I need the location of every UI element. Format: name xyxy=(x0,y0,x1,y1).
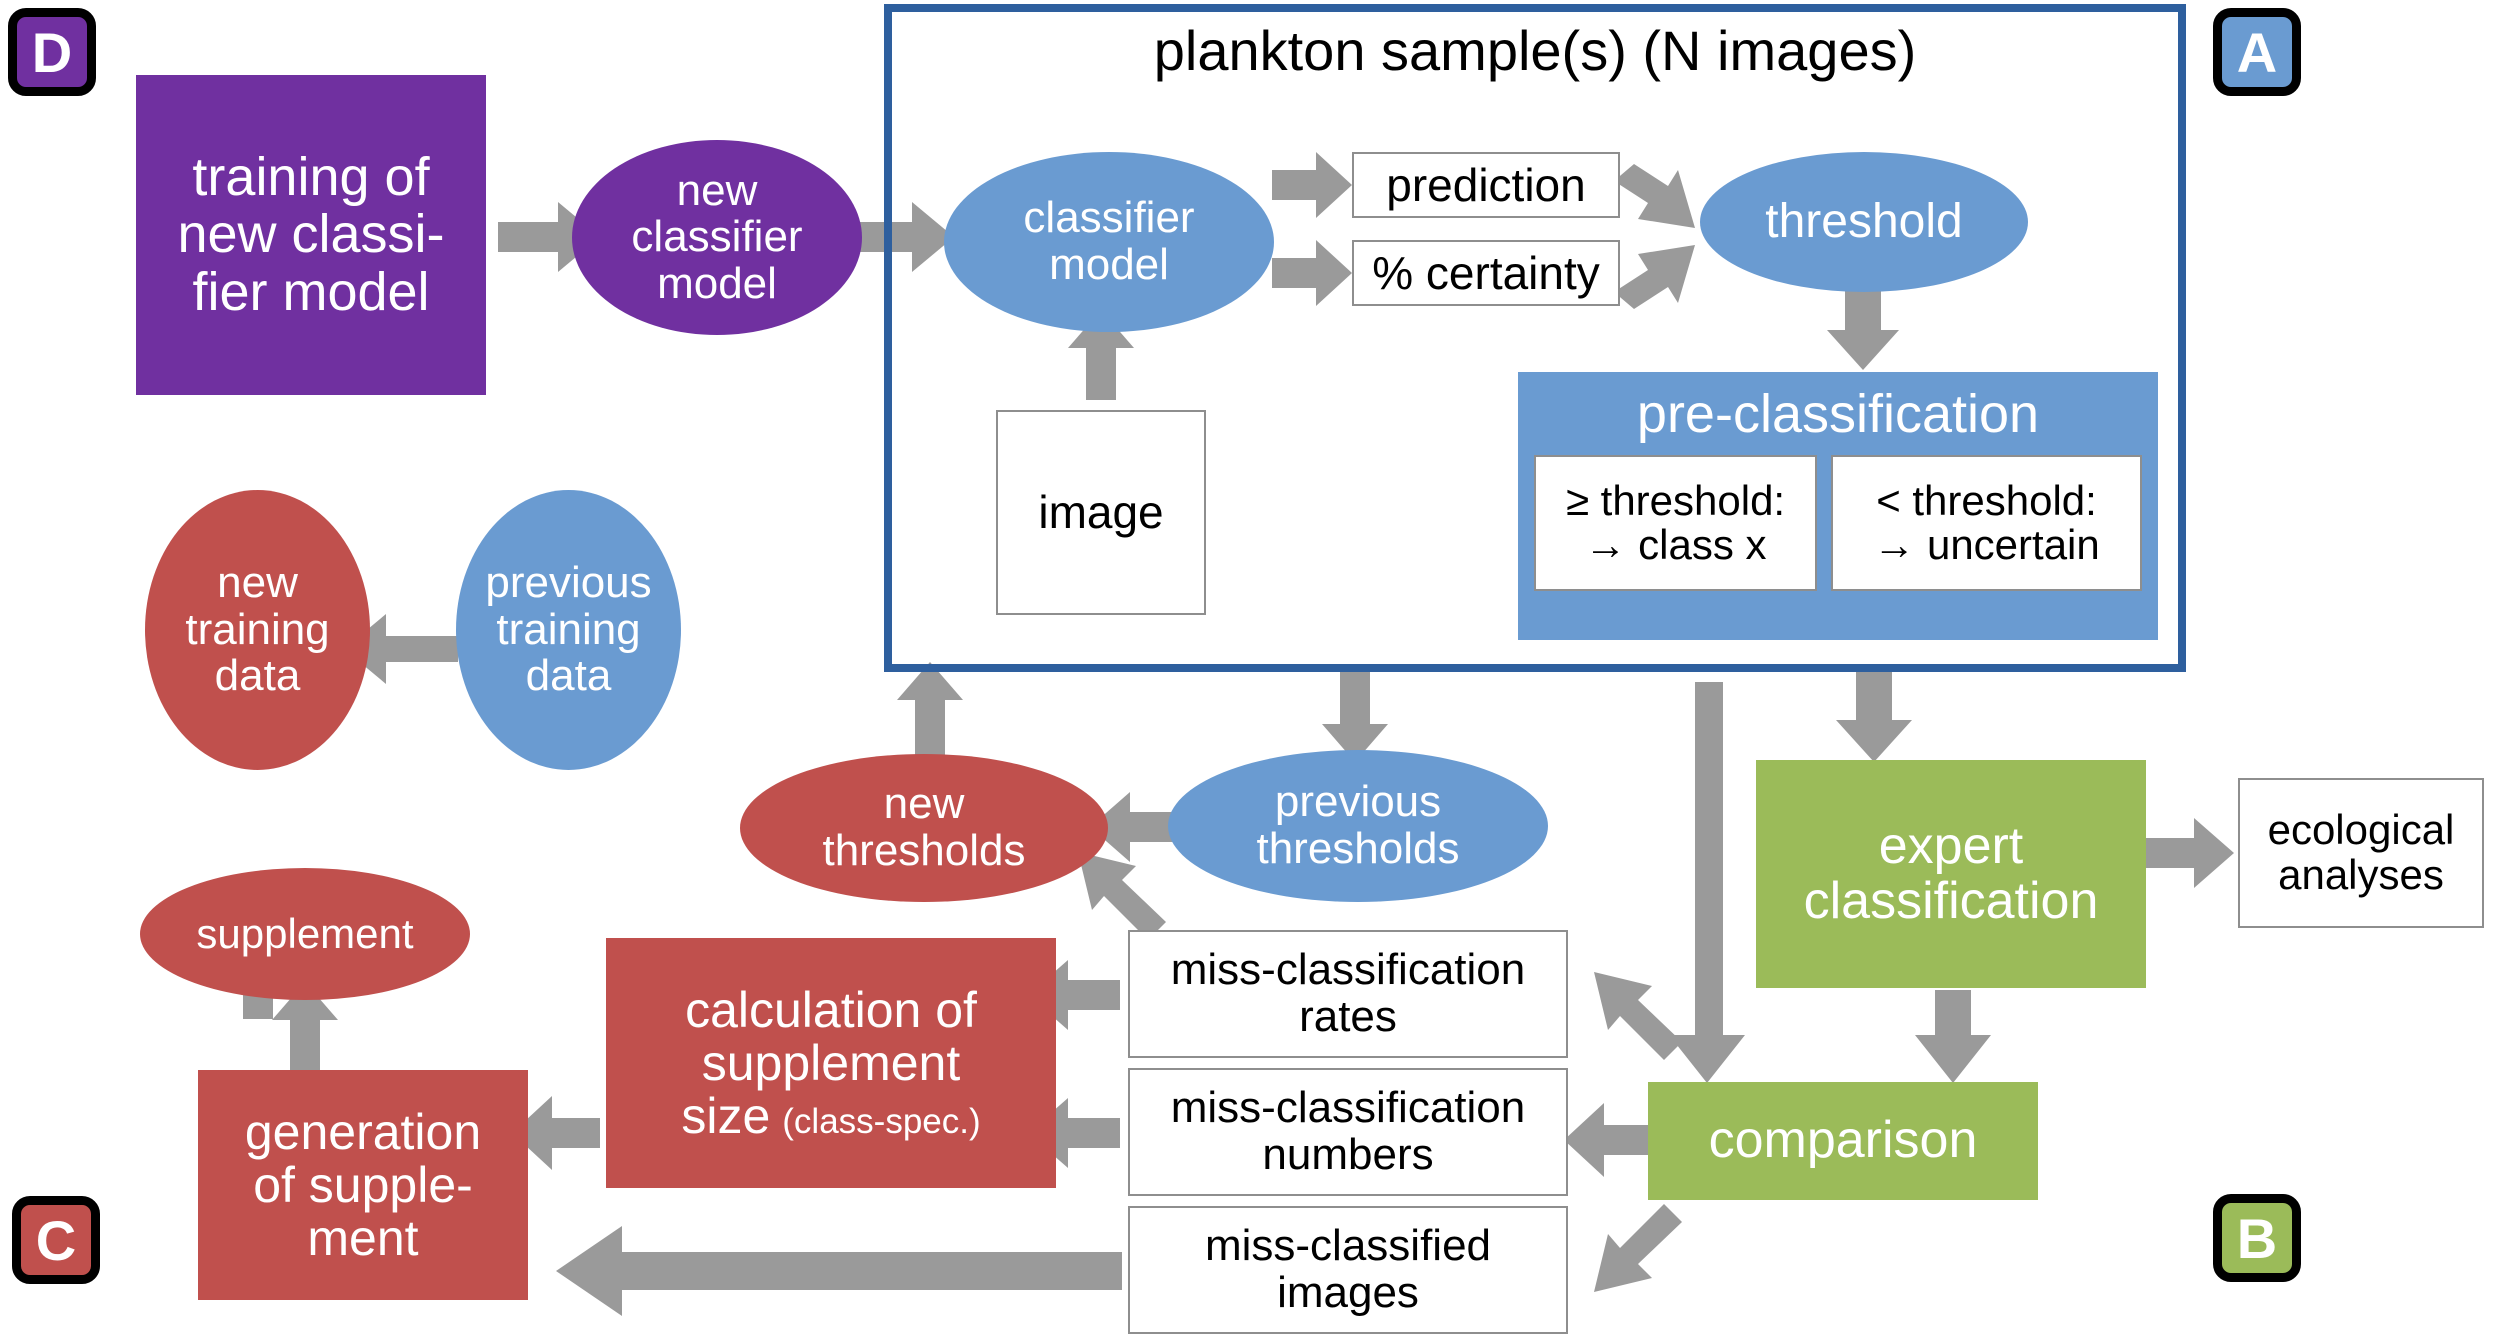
threshold-label: threshold xyxy=(1765,197,1962,248)
training-line-3: fier model xyxy=(192,264,429,321)
node-miss-classification-numbers[interactable]: miss-classification numbers xyxy=(1128,1068,1568,1196)
node-miss-classification-rates[interactable]: miss-classification rates xyxy=(1128,930,1568,1058)
calculation-line-2: supplement xyxy=(702,1037,961,1090)
prediction-label: prediction xyxy=(1386,161,1585,210)
miss-classification-rates-line-1: miss-classification xyxy=(1171,947,1526,994)
ecological-analyses-line-2: analyses xyxy=(2278,853,2444,898)
comparison-label: comparison xyxy=(1709,1113,1978,1168)
new-training-data-line-2: training xyxy=(185,607,329,654)
arrow-rates-to-newthresholds xyxy=(1078,852,1166,940)
node-miss-classified-images[interactable]: miss-classified images xyxy=(1128,1206,1568,1334)
arrow-expert-to-ecological xyxy=(2146,818,2234,888)
pre-classification-title: pre-classification xyxy=(1637,386,2039,443)
arrow-comparison-to-numbers xyxy=(1564,1103,1656,1177)
new-classifier-line-3: model xyxy=(657,261,777,308)
generation-line-1: generation xyxy=(245,1106,481,1159)
node-new-classifier-model[interactable]: new classifier model xyxy=(572,140,862,335)
ge-threshold-line-2: → class x xyxy=(1585,523,1767,568)
badge-b-label: B xyxy=(2237,1206,2277,1271)
previous-training-data-line-2: training xyxy=(496,607,640,654)
node-supplement[interactable]: supplement xyxy=(140,868,470,1000)
node-lt-threshold[interactable]: < threshold: → uncertain xyxy=(1831,455,2142,591)
training-line-1: training of xyxy=(192,149,429,206)
miss-classified-images-line-2: images xyxy=(1277,1270,1419,1317)
badge-b[interactable]: B xyxy=(2213,1194,2301,1282)
arrow-preclassification-to-expert xyxy=(1836,668,1912,762)
arrow-expert-to-comparison xyxy=(1915,990,1991,1083)
classifier-model-line-2: model xyxy=(1049,242,1169,289)
expert-classification-line-2: classification xyxy=(1804,874,2099,929)
miss-classification-numbers-line-1: miss-classification xyxy=(1171,1085,1526,1132)
new-training-data-line-3: data xyxy=(215,653,301,700)
node-previous-thresholds[interactable]: previous thresholds xyxy=(1168,750,1548,902)
percent-certainty-label: % certainty xyxy=(1372,249,1600,298)
miss-classification-rates-line-2: rates xyxy=(1299,994,1397,1041)
node-image[interactable]: image xyxy=(996,410,1206,615)
miss-classification-numbers-line-2: numbers xyxy=(1262,1132,1433,1179)
new-classifier-line-1: new xyxy=(677,168,758,215)
generation-line-2: of supple- xyxy=(253,1159,473,1212)
classifier-model-line-1: classifier xyxy=(1023,195,1194,242)
arrow-comparison-to-images xyxy=(1594,1204,1682,1292)
node-threshold[interactable]: threshold xyxy=(1700,152,2028,292)
generation-line-3: ment xyxy=(307,1212,418,1265)
node-pre-classification[interactable]: pre-classification ≥ threshold: → class … xyxy=(1518,372,2158,640)
previous-thresholds-line-1: previous xyxy=(1275,779,1441,826)
new-thresholds-line-1: new xyxy=(884,781,965,828)
ecological-analyses-line-1: ecological xyxy=(2268,808,2455,853)
previous-training-data-line-1: previous xyxy=(485,560,651,607)
node-classifier-model[interactable]: classifier model xyxy=(944,152,1274,332)
previous-training-data-line-3: data xyxy=(526,653,612,700)
node-training-of-new-classifier-model[interactable]: training of new classi- fier model xyxy=(136,75,486,395)
arrow-missclassifiedimages-to-generation xyxy=(556,1226,1122,1316)
arrow-preclassification-to-comparison xyxy=(1669,682,1745,1083)
badge-a-label: A xyxy=(2237,20,2277,85)
badge-d[interactable]: D xyxy=(8,8,96,96)
badge-a[interactable]: A xyxy=(2213,8,2301,96)
new-thresholds-line-2: thresholds xyxy=(822,828,1025,875)
previous-thresholds-line-2: thresholds xyxy=(1256,826,1459,873)
calculation-line-3-sub: (class-spec.) xyxy=(782,1103,980,1140)
node-expert-classification[interactable]: expert classification xyxy=(1756,760,2146,988)
panel-title: plankton sample(s) (N images) xyxy=(884,18,2186,83)
diagram-canvas: plankton sample(s) (N images) training o… xyxy=(0,0,2500,1341)
expert-classification-line-1: expert xyxy=(1879,819,2024,874)
node-generation-of-supplement[interactable]: generation of supple- ment xyxy=(198,1070,528,1300)
node-percent-certainty[interactable]: % certainty xyxy=(1352,240,1620,306)
node-new-thresholds[interactable]: new thresholds xyxy=(740,754,1108,902)
node-new-training-data[interactable]: new training data xyxy=(145,490,370,770)
node-previous-training-data[interactable]: previous training data xyxy=(456,490,681,770)
node-calculation-of-supplement-size[interactable]: calculation of supplement size (class-sp… xyxy=(606,938,1056,1188)
node-comparison[interactable]: comparison xyxy=(1648,1082,2038,1200)
new-classifier-line-2: classifier xyxy=(631,214,802,261)
ge-threshold-line-1: ≥ threshold: xyxy=(1566,479,1785,524)
node-prediction[interactable]: prediction xyxy=(1352,152,1620,218)
node-ecological-analyses[interactable]: ecological analyses xyxy=(2238,778,2484,928)
image-label: image xyxy=(1038,488,1163,537)
miss-classified-images-line-1: miss-classified xyxy=(1205,1223,1491,1270)
badge-d-label: D xyxy=(32,20,72,85)
lt-threshold-line-2: → uncertain xyxy=(1873,523,2099,568)
calculation-line-1: calculation of xyxy=(685,984,977,1037)
training-line-2: new classi- xyxy=(177,206,444,263)
arrow-box-to-previousthresholds xyxy=(1322,672,1388,762)
lt-threshold-line-1: < threshold: xyxy=(1876,479,2097,524)
new-training-data-line-1: new xyxy=(217,560,298,607)
node-ge-threshold[interactable]: ≥ threshold: → class x xyxy=(1534,455,1817,591)
calculation-line-3: size xyxy=(681,1090,770,1143)
badge-c-label: C xyxy=(36,1208,76,1273)
badge-c[interactable]: C xyxy=(12,1196,100,1284)
arrow-comparison-to-rates xyxy=(1594,972,1682,1060)
supplement-label: supplement xyxy=(196,912,413,957)
